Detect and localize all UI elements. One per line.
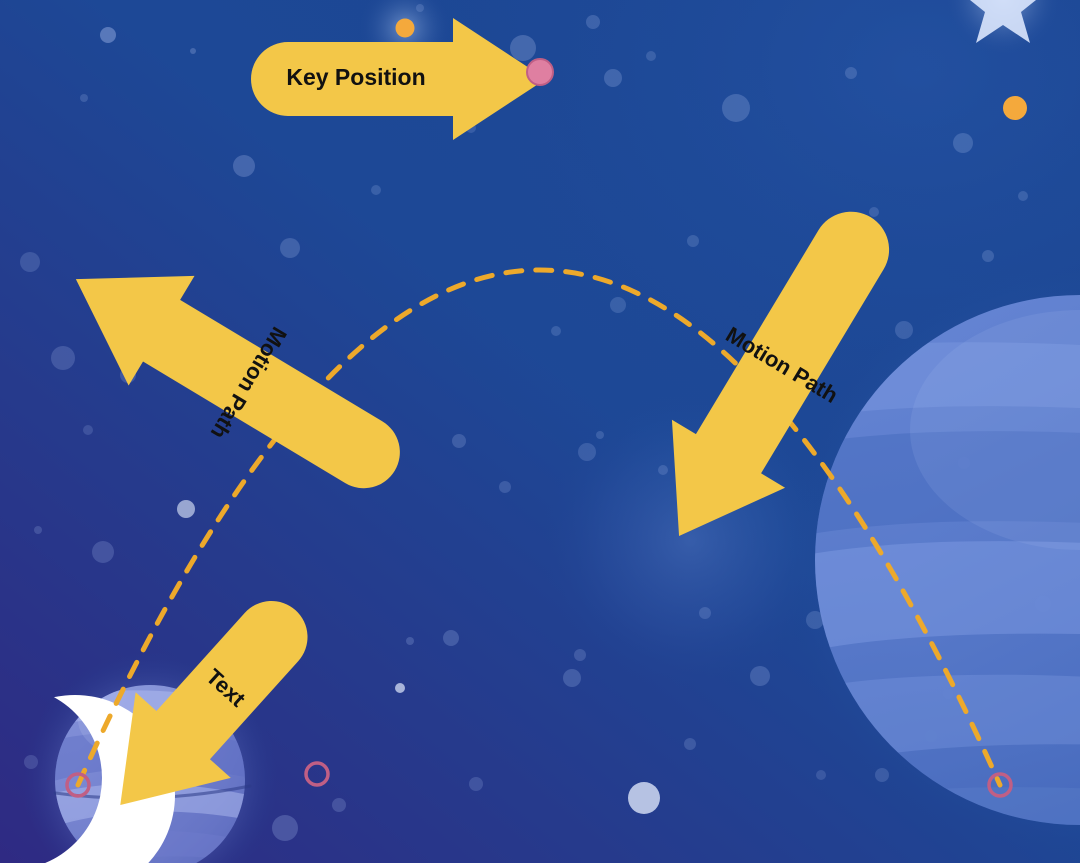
key-position-label: Key Position — [286, 64, 425, 90]
scene-svg: Key Position Motion Path Motion Path Tex… — [0, 0, 1080, 863]
orange-dot-top-core — [396, 19, 415, 38]
orange-dot-right-core — [1003, 96, 1027, 120]
motion-path-canvas: Key Position Motion Path Motion Path Tex… — [0, 0, 1080, 863]
key-position-marker[interactable] — [527, 59, 553, 85]
